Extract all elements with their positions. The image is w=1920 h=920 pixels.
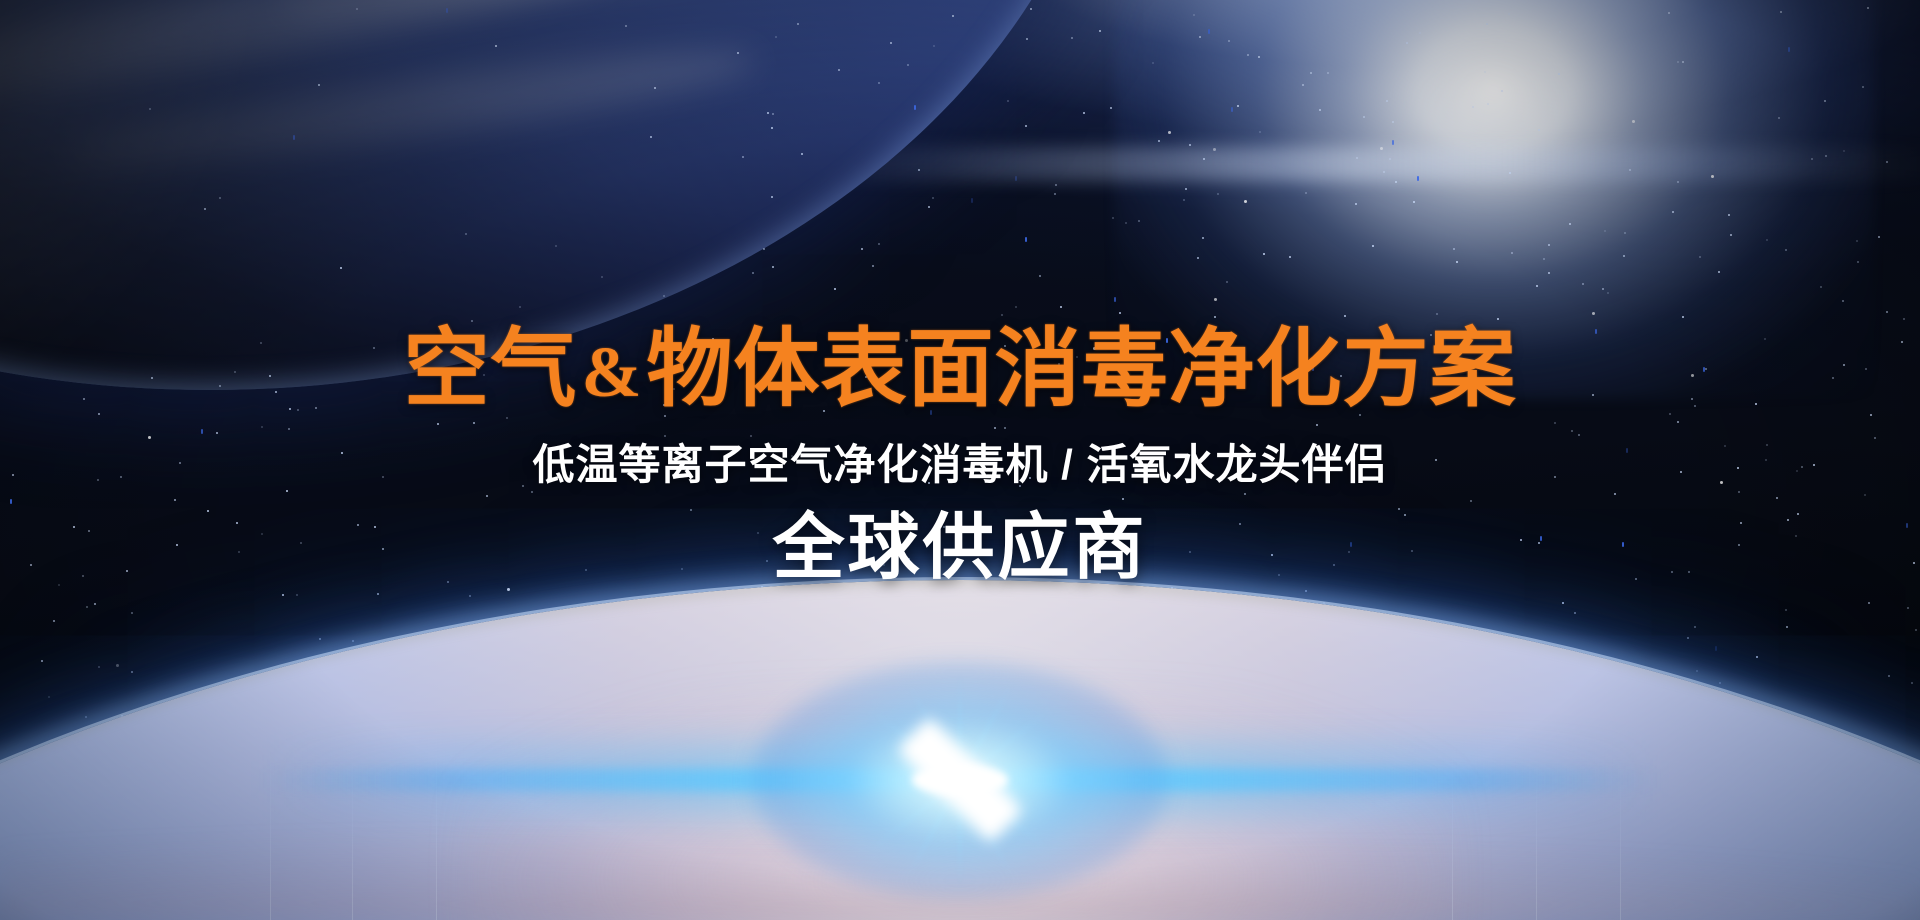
- cloud-wisp: [279, 0, 801, 28]
- cloud-wisp: [0, 0, 620, 140]
- cloud-band: [0, 0, 588, 82]
- cloud-wisp: [0, 0, 182, 82]
- hero-banner: 空气&物体表面消毒净化方案 低温等离子空气净化消毒机 / 活氧水龙头伴侣 全球供…: [0, 0, 1920, 920]
- earth-planet-icon: [0, 0, 1120, 390]
- cloud-wisp: [59, 32, 760, 187]
